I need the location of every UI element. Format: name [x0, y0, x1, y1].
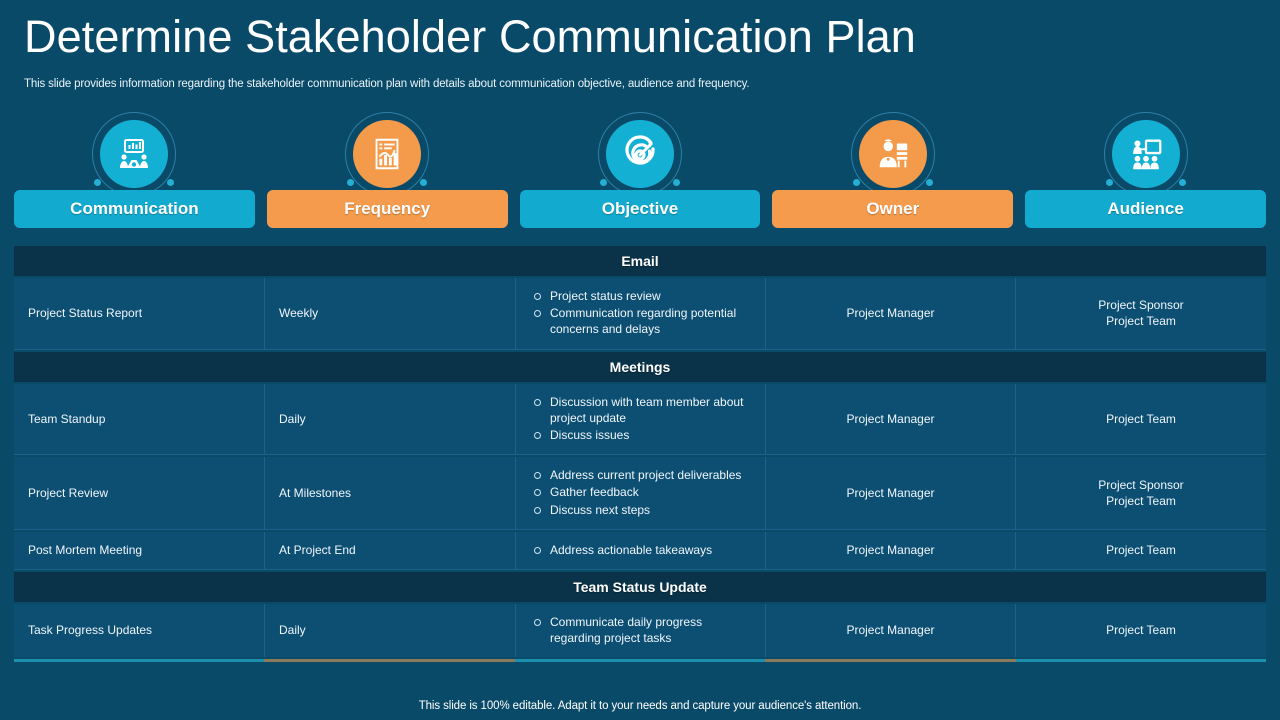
- table-row[interactable]: Team Standup Daily Discussion with team …: [14, 384, 1266, 456]
- list-item: Discuss issues: [530, 427, 751, 443]
- cell-communication: Post Mortem Meeting: [14, 532, 265, 569]
- category-label-objective[interactable]: Objective: [520, 190, 761, 228]
- icon-frame-objective: [598, 112, 682, 196]
- table-row[interactable]: Project Review At Milestones Address cur…: [14, 457, 1266, 530]
- category-communication[interactable]: Communication: [14, 112, 255, 244]
- accent-segment: [1016, 659, 1266, 662]
- icon-frame-owner: [851, 112, 935, 196]
- category-owner[interactable]: Owner: [772, 112, 1013, 244]
- cell-owner: Project Manager: [766, 278, 1016, 349]
- list-item: Address actionable takeaways: [530, 542, 751, 558]
- cell-communication: Project Review: [14, 457, 265, 529]
- objective-list: Address current project deliverables Gat…: [530, 467, 751, 519]
- cell-communication: Project Status Report: [14, 278, 265, 349]
- audience-line: Project Team: [1106, 493, 1176, 509]
- cell-frequency: At Project End: [265, 532, 516, 569]
- audience-line: Project Team: [1106, 411, 1176, 427]
- category-label-communication[interactable]: Communication: [14, 190, 255, 228]
- table-row[interactable]: Project Status Report Weekly Project sta…: [14, 278, 1266, 350]
- cell-objective: Communicate daily progress regarding pro…: [516, 604, 766, 657]
- cell-frequency: At Milestones: [265, 457, 516, 529]
- cell-frequency: Weekly: [265, 278, 516, 349]
- category-label-frequency[interactable]: Frequency: [267, 190, 508, 228]
- audience-line: Project Team: [1106, 622, 1176, 638]
- cell-objective: Address actionable takeaways: [516, 532, 766, 569]
- cell-audience: Project Team: [1016, 532, 1266, 569]
- objective-list: Address actionable takeaways: [530, 542, 751, 559]
- target-bullseye-icon: [606, 120, 674, 188]
- cell-owner: Project Manager: [766, 604, 1016, 657]
- page-title: Determine Stakeholder Communication Plan: [24, 12, 916, 62]
- cell-owner: Project Manager: [766, 384, 1016, 455]
- page-subtitle: This slide provides information regardin…: [24, 78, 749, 90]
- slide-root: Determine Stakeholder Communication Plan…: [0, 0, 1280, 720]
- list-item: Discussion with team member about projec…: [530, 394, 751, 426]
- cell-objective: Address current project deliverables Gat…: [516, 457, 766, 529]
- section-header-email: Email: [14, 246, 1266, 276]
- cell-objective: Discussion with team member about projec…: [516, 384, 766, 455]
- cell-audience: Project Team: [1016, 604, 1266, 657]
- list-item: Address current project deliverables: [530, 467, 751, 483]
- objective-list: Project status review Communication rega…: [530, 288, 751, 339]
- table-row[interactable]: Task Progress Updates Daily Communicate …: [14, 604, 1266, 657]
- cell-audience: Project Sponsor Project Team: [1016, 457, 1266, 529]
- communication-plan-table: Email Project Status Report Weekly Proje…: [14, 246, 1266, 659]
- cell-objective: Project status review Communication rega…: [516, 278, 766, 349]
- cell-owner: Project Manager: [766, 532, 1016, 569]
- objective-list: Discussion with team member about projec…: [530, 394, 751, 445]
- list-item: Gather feedback: [530, 484, 751, 500]
- accent-segment: [264, 659, 514, 662]
- presentation-meeting-icon: [100, 120, 168, 188]
- accent-segment: [515, 659, 765, 662]
- audience-line: Project Sponsor: [1098, 477, 1183, 493]
- category-label-owner[interactable]: Owner: [772, 190, 1013, 228]
- presenter-audience-icon: [1112, 120, 1180, 188]
- icon-frame-communication: [92, 112, 176, 196]
- category-audience[interactable]: Audience: [1025, 112, 1266, 244]
- cell-communication: Task Progress Updates: [14, 604, 265, 657]
- category-columns: Communication Frequency: [14, 112, 1266, 244]
- icon-frame-frequency: [345, 112, 429, 196]
- category-objective[interactable]: Objective: [520, 112, 761, 244]
- list-item: Communicate daily progress regarding pro…: [530, 614, 751, 646]
- section-header-meetings: Meetings: [14, 352, 1266, 382]
- cell-frequency: Daily: [265, 384, 516, 455]
- list-item: Discuss next steps: [530, 502, 751, 518]
- cell-audience: Project Sponsor Project Team: [1016, 278, 1266, 349]
- accent-segment: [765, 659, 1015, 662]
- footer-note: This slide is 100% editable. Adapt it to…: [0, 700, 1280, 712]
- accent-segment: [14, 659, 264, 662]
- audience-line: Project Team: [1106, 542, 1176, 558]
- cell-owner: Project Manager: [766, 457, 1016, 529]
- list-item: Project status review: [530, 288, 751, 304]
- table-row[interactable]: Post Mortem Meeting At Project End Addre…: [14, 532, 1266, 570]
- objective-list: Communicate daily progress regarding pro…: [530, 614, 751, 647]
- cell-audience: Project Team: [1016, 384, 1266, 455]
- cell-frequency: Daily: [265, 604, 516, 657]
- bottom-accent-strip: [14, 659, 1266, 662]
- bar-chart-report-icon: [353, 120, 421, 188]
- person-at-desk-icon: [859, 120, 927, 188]
- category-label-audience[interactable]: Audience: [1025, 190, 1266, 228]
- category-frequency[interactable]: Frequency: [267, 112, 508, 244]
- icon-frame-audience: [1104, 112, 1188, 196]
- section-header-team-status-update: Team Status Update: [14, 572, 1266, 602]
- audience-line: Project Team: [1106, 313, 1176, 329]
- list-item: Communication regarding potential concer…: [530, 305, 751, 337]
- cell-communication: Team Standup: [14, 384, 265, 455]
- audience-line: Project Sponsor: [1098, 297, 1183, 313]
